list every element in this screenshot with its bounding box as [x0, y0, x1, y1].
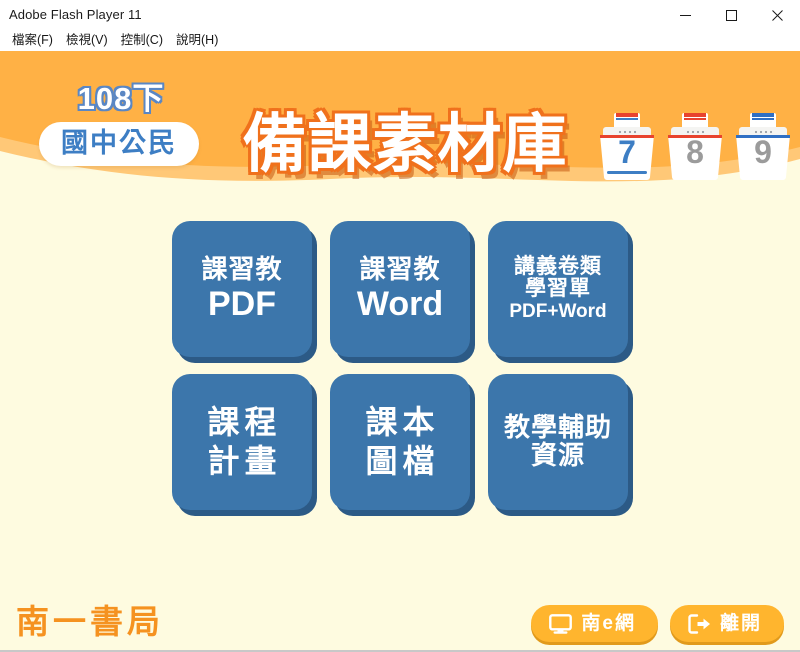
- tile-teaching-plan-pdf[interactable]: 課習教 PDF: [172, 221, 312, 357]
- term-badge-group: 108下 國中公民: [24, 81, 214, 166]
- menu-item-help[interactable]: 說明(H): [170, 31, 225, 50]
- nan-e-web-label: 南e網: [581, 613, 636, 635]
- tile-line-1: 講義卷類: [514, 256, 602, 278]
- grade-book-8[interactable]: 8: [664, 109, 726, 181]
- tile-line-1: 課習教: [201, 256, 282, 284]
- menu-item-file[interactable]: 檔案(F): [6, 31, 60, 50]
- tile-textbook-images[interactable]: 課本 圖檔: [330, 374, 470, 510]
- close-icon: [772, 10, 783, 21]
- publisher-logo: 南一書局: [16, 603, 164, 643]
- minimize-button[interactable]: [662, 0, 708, 30]
- book-icon: [664, 109, 726, 181]
- term-label: 108下: [28, 81, 214, 117]
- exit-icon: [688, 614, 711, 634]
- tile-course-plan[interactable]: 課程 計畫: [172, 374, 312, 510]
- close-button[interactable]: [754, 0, 800, 30]
- tile-line-2: 資源: [531, 442, 585, 470]
- exit-button[interactable]: 離開: [670, 605, 784, 642]
- resource-grid-row-1: 課習教 PDF 課習教 Word 講義卷類 學習單 PDF+Word: [0, 221, 800, 357]
- menu-bar: 檔案(F) 檢視(V) 控制(C) 說明(H): [0, 30, 800, 51]
- minimize-icon: [680, 10, 691, 21]
- monitor-icon: [549, 614, 572, 634]
- window-title: Adobe Flash Player 11: [9, 0, 142, 30]
- tile-line-1: 教學輔助: [504, 414, 612, 442]
- resource-grid: 課習教 PDF 課習教 Word 講義卷類 學習單 PDF+Word 課程 計畫: [0, 221, 800, 510]
- tile-handouts-worksheets[interactable]: 講義卷類 學習單 PDF+Word: [488, 221, 628, 357]
- title-bar: Adobe Flash Player 11: [0, 0, 800, 30]
- subject-pill: 國中公民: [39, 122, 199, 166]
- tile-line-1: 課本: [360, 406, 439, 440]
- nan-e-web-button[interactable]: 南e網: [531, 605, 658, 642]
- grade-book-7[interactable]: 7: [596, 109, 658, 181]
- maximize-icon: [726, 10, 737, 21]
- grade-book-9[interactable]: 9: [732, 109, 794, 181]
- flash-player-window: Adobe Flash Player 11 檔案(F) 檢視(V) 控制(C): [0, 0, 800, 652]
- tile-line-2: PDF: [208, 286, 276, 322]
- tile-line-3: PDF+Word: [509, 302, 606, 322]
- menu-item-control[interactable]: 控制(C): [115, 31, 170, 50]
- tile-line-1: 課程: [202, 406, 281, 440]
- page-title: 備課素材庫: [215, 106, 595, 182]
- tile-line-2: Word: [357, 286, 443, 322]
- footer-actions: 南e網 離開: [531, 605, 784, 642]
- subject-label: 國中公民: [61, 128, 177, 158]
- tile-teaching-plan-word[interactable]: 課習教 Word: [330, 221, 470, 357]
- book-icon: [596, 109, 658, 181]
- tile-line-2: 計畫: [202, 445, 281, 479]
- exit-label: 離開: [720, 613, 762, 635]
- tile-teaching-aids[interactable]: 教學輔助 資源: [488, 374, 628, 510]
- flash-stage: 108下 國中公民 備課素材庫: [0, 51, 800, 651]
- window-controls: [662, 0, 800, 30]
- maximize-button[interactable]: [708, 0, 754, 30]
- tile-line-2: 學習單: [525, 278, 591, 300]
- menu-item-view[interactable]: 檢視(V): [60, 31, 115, 50]
- book-icon: [732, 109, 794, 181]
- grade-selector: 7 8: [596, 109, 794, 181]
- resource-grid-row-2: 課程 計畫 課本 圖檔 教學輔助 資源: [0, 374, 800, 510]
- tile-line-2: 圖檔: [360, 445, 439, 479]
- tile-line-1: 課習教: [359, 256, 440, 284]
